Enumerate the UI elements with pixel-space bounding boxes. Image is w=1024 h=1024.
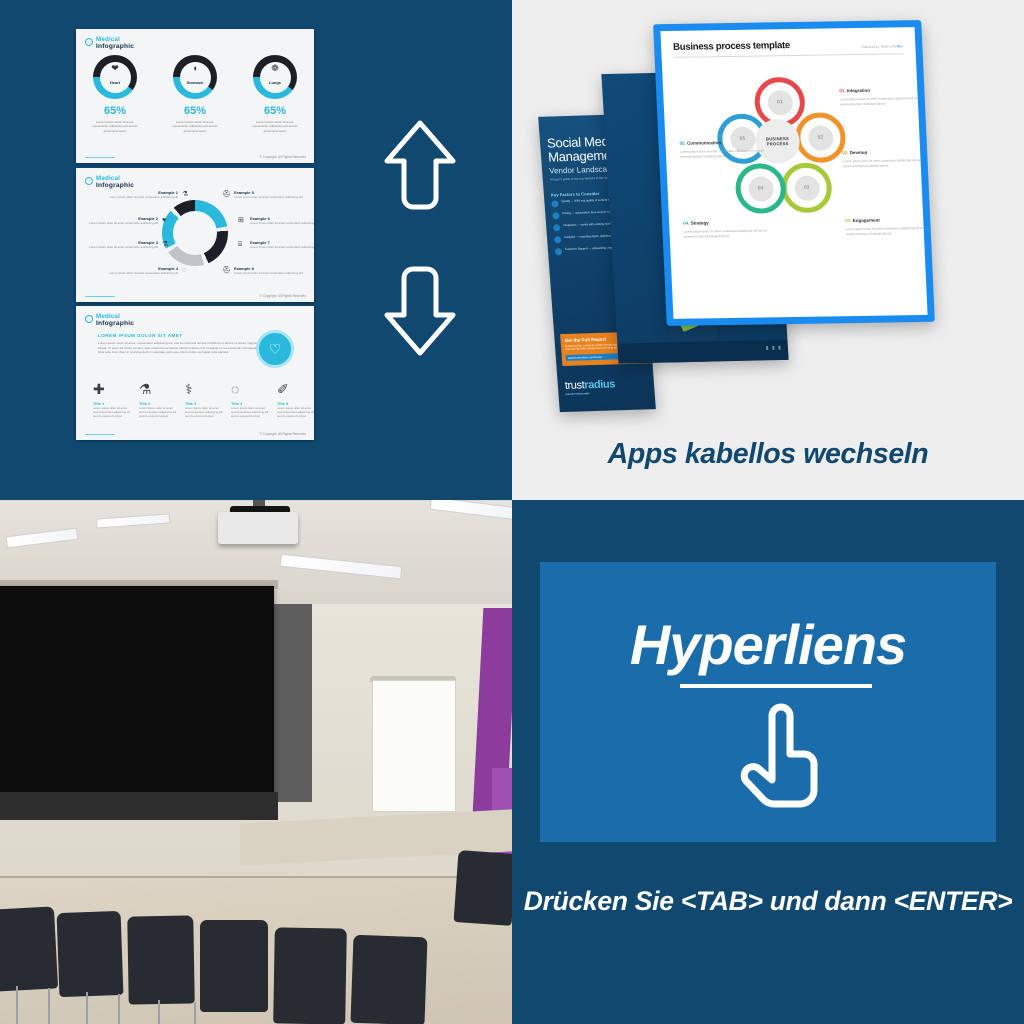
example-item-3: Example 3 Lorem ipsum dolor sit amet con… <box>80 240 158 250</box>
capsules-icon: ◌ <box>231 380 269 398</box>
core-label-2: PROCESS <box>767 141 789 146</box>
item-heading: 04. Strategy <box>683 219 767 226</box>
bullet-icon <box>551 200 559 207</box>
status-indicator: ▮ ▮ ▮ <box>766 345 782 351</box>
slide-3-item-row: ✚ Title 1 Lorem ipsum dolor sit amet sed… <box>93 380 314 419</box>
flask-icon: ⚗ <box>162 240 168 249</box>
logo-light: trust <box>564 379 584 392</box>
node-label: 04 <box>748 176 774 201</box>
logo-tagline: reviews from real users, verified <box>565 391 615 396</box>
chair <box>350 935 427 1024</box>
clipboard-icon: ⌸ <box>238 240 242 249</box>
donut-chart-heart: ❤ Heart <box>93 55 137 99</box>
meeting-room-photo <box>0 500 512 1024</box>
example-body: Lorem ipsum dolor sit amet consectetur a… <box>80 222 158 226</box>
item-body: Lorem ipsum dolor sit amet sed consectet… <box>185 407 223 419</box>
slide-3-title-top: Medical <box>96 313 134 320</box>
donut-item: ◖ Stomach 65% Lorem ipsum dolor sit amet… <box>168 55 223 133</box>
donut-label: Heart <box>110 69 120 85</box>
example-item-8: Example 8 Lorem ipsum dolor sit amet con… <box>234 266 312 276</box>
list-item: ✚ Title 1 Lorem ipsum dolor sit amet sed… <box>93 380 131 419</box>
top-right-caption: Apps kabellos wechseln <box>512 438 1024 471</box>
item-heading: 01. Integration <box>839 87 923 94</box>
example-item-5: Example 5 Lorem ipsum dolor sit amet con… <box>234 190 312 200</box>
item-body: Lorem ipsum dolor sit amet sed consectet… <box>231 407 269 419</box>
business-item-3: 03. Engagement Lorem ipsum dolor sit ame… <box>845 217 927 236</box>
projection-screen <box>0 586 274 792</box>
ambulance-icon: ⛑ <box>222 266 231 275</box>
donut-body: Lorem ipsum dolor sit amet, consectetur … <box>168 120 223 133</box>
slide-2-title-top: Medical <box>96 175 134 182</box>
example-item-6: Example 6 Lorem ipsum dolor sit amet con… <box>250 216 314 226</box>
syringe-icon: ✐ <box>277 380 314 398</box>
heart-shield-icon: ♥ <box>162 216 166 225</box>
item-heading: 05. Communication <box>679 139 763 146</box>
list-item: ⚗ Title 2 Lorem ipsum dolor sit amet sed… <box>139 380 177 419</box>
first-aid-kit-icon: ⊞ <box>238 216 244 225</box>
slide-thumbnail-1[interactable]: Medical Infographic ❤ Heart 65% Lorem ip… <box>76 29 314 163</box>
donut-label: Lungs <box>269 69 281 85</box>
footer-rule <box>85 434 115 435</box>
slide-3-paragraph: Lorem ipsum dolor sit amet, consectetur … <box>98 341 260 355</box>
item-number: 01. <box>839 88 845 93</box>
footer-rule <box>85 157 115 158</box>
bullet-icon <box>555 248 563 255</box>
example-body: Lorem ipsum dolor sit amet consectetur a… <box>80 246 158 250</box>
item-body: Lorem ipsum dolor sit amet sed consectet… <box>93 407 131 419</box>
footer-note: © Copyright. All Rights Reserved <box>260 432 306 436</box>
process-node-3: 03 <box>781 162 833 213</box>
slide-1-title-top: Medical <box>96 36 134 43</box>
example-item-1: Example 1 Lorem ipsum dolor sit amet con… <box>100 190 178 200</box>
infographic-page: Medical Infographic ❤ Heart 65% Lorem ip… <box>0 0 1024 1024</box>
footer-note: © Copyright. All Rights Reserved <box>260 155 306 159</box>
item-number: 02. <box>842 150 848 155</box>
slide-3-title-bottom: Infographic <box>96 320 134 328</box>
slide-thumbnail-2[interactable]: Medical Infographic Example 1 Lorem ipsu… <box>76 168 314 302</box>
donut-item: ❤ Heart 65% Lorem ipsum dolor sit amet, … <box>88 55 143 133</box>
wall-dark-strip <box>272 604 312 802</box>
bandage-icon: ✚ <box>93 380 131 398</box>
pointing-hand-icon <box>736 702 822 812</box>
business-item-1: 01. Integration Lorem ipsum dolor sit am… <box>839 87 924 106</box>
hyperlink-demo-panel: Hyperliens <box>540 562 996 842</box>
trustradius-logo: trustradius reviews from real users, ver… <box>564 378 615 396</box>
logo-bold: radius <box>584 378 616 391</box>
heartbeat-icon: ♡ <box>256 330 294 368</box>
app-card-stack: Social Media Management Vendor Landscape… <box>512 0 1024 410</box>
item-label: Strategy <box>691 220 709 225</box>
item-number: 03. <box>845 218 851 223</box>
example-item-4: Example 4 Lorem ipsum dolor sit amet con… <box>100 266 178 276</box>
item-heading: 02. Develop <box>842 149 926 156</box>
branding-accent: Pro <box>897 44 902 48</box>
process-ring-wrap: Example 1 Lorem ipsum dolor sit amet con… <box>76 188 314 292</box>
node-label: 02 <box>807 125 833 150</box>
bottom-right-caption: Drücken Sie <TAB> und dann <ENTER> <box>512 886 1024 917</box>
business-slide-branding: Published by TEMPLATE Pro <box>862 44 903 49</box>
footer-note: © Copyright. All Rights Reserved <box>260 294 306 298</box>
gear-icon <box>85 315 93 323</box>
donut-percent: 65% <box>168 105 223 117</box>
flipchart-whiteboard <box>372 680 456 812</box>
item-body: Lorem ipsum dolor sit amet consectetur a… <box>846 226 928 236</box>
branding-text: Published by TEMPLATE <box>862 44 897 49</box>
process-node-4: 04 <box>735 163 787 214</box>
business-slide-content: Business process template Published by T… <box>660 27 927 319</box>
title-underline <box>680 684 872 688</box>
slide-1-header: Medical Infographic <box>85 36 134 51</box>
list-item: ◌ Title 4 Lorem ipsum dolor sit amet sed… <box>231 380 269 419</box>
donut-chart-row: ❤ Heart 65% Lorem ipsum dolor sit amet, … <box>76 55 314 133</box>
node-label: 01 <box>767 90 793 115</box>
donut-body: Lorem ipsum dolor sit amet, consectetur … <box>88 120 143 133</box>
item-body: Lorem ipsum dolor sit amet consectetur a… <box>842 158 926 168</box>
page-title: Hyperliens <box>540 612 996 677</box>
example-body: Lorem ipsum dolor sit amet consectetur a… <box>250 246 314 250</box>
poster-key-heading: Key Factors to Consider <box>551 191 600 198</box>
chair <box>200 920 268 1012</box>
slide-thumbnails-panel: Medical Infographic ❤ Heart 65% Lorem ip… <box>0 0 512 500</box>
hyperlinks-panel: Hyperliens Drücken Sie <TAB> und dann <E… <box>512 500 1024 1024</box>
wireless-app-switching-panel: Social Media Management Vendor Landscape… <box>512 0 1024 500</box>
donut-percent: 65% <box>248 105 303 117</box>
example-item-2: Example 2 Lorem ipsum dolor sit amet con… <box>80 216 158 226</box>
bullet-icon <box>553 224 561 231</box>
microscope-icon: ⚗ <box>182 190 188 199</box>
donut-body: Lorem ipsum dolor sit amet, consectetur … <box>248 120 303 133</box>
slide-3-heading: LOREM IPSUM DOLOR SIT AMET <box>98 333 183 338</box>
list-item: ✐ Title 5 Lorem ipsum dolor sit amet sed… <box>277 380 314 419</box>
item-label: Engagement <box>853 218 880 223</box>
gear-icon <box>85 177 93 185</box>
item-body: Lorem ipsum dolor sit amet consectetur a… <box>680 148 764 158</box>
donut-chart-stomach: ◖ Stomach <box>173 55 217 99</box>
medicine-bottle-icon: ⚕ <box>185 380 223 398</box>
item-number: 04. <box>683 221 689 226</box>
title-rule <box>674 53 904 58</box>
list-item: ⚕ Title 3 Lorem ipsum dolor sit amet sed… <box>185 380 223 419</box>
example-body: Lorem ipsum dolor sit amet consectetur a… <box>100 196 178 200</box>
meeting-room-photo-panel: Lang drücken, um einen schwarzen Bildsch… <box>0 500 512 1024</box>
business-slide-title: Business process template <box>673 40 790 53</box>
business-item-5: 05. Communication Lorem ipsum dolor sit … <box>679 139 764 158</box>
item-body: Lorem ipsum dolor sit amet sed consectet… <box>277 407 314 419</box>
bullet-icon <box>554 236 562 243</box>
item-label: Communication <box>687 140 721 146</box>
bullet-icon <box>552 212 560 219</box>
example-body: Lorem ipsum dolor sit amet consectetur a… <box>250 222 314 226</box>
donut-label: Stomach <box>187 69 204 85</box>
node-label: 03 <box>794 175 820 200</box>
medical-bag-icon: ⛑ <box>222 190 231 199</box>
segmented-donut-chart <box>162 200 228 266</box>
item-body: Lorem ipsum dolor sit amet sed consectet… <box>139 407 177 419</box>
chair <box>273 927 347 1024</box>
gear-icon <box>85 38 93 46</box>
app-card-status-bar: ▮ ▮ ▮ <box>617 340 788 364</box>
donut-item: ❁ Lungs 65% Lorem ipsum dolor sit amet, … <box>248 55 303 133</box>
example-item-7: Example 7 Lorem ipsum dolor sit amet con… <box>250 240 314 250</box>
ceiling-projector <box>218 512 298 544</box>
slide-1-title-bottom: Infographic <box>96 43 134 51</box>
item-label: Develop <box>850 150 868 155</box>
chair <box>127 915 195 1004</box>
process-node-2: 02 <box>794 112 846 163</box>
dropper-icon: ⚗ <box>139 380 177 398</box>
arrow-down-icon <box>382 262 458 358</box>
chair <box>454 850 512 926</box>
item-label: Integration <box>847 88 870 93</box>
pills-icon: ◌ <box>182 266 186 275</box>
example-body: Lorem ipsum dolor sit amet consectetur a… <box>234 272 312 276</box>
screen-lower-board <box>0 792 278 820</box>
arrow-up-icon <box>382 118 458 214</box>
item-heading: 03. Engagement <box>845 217 927 224</box>
slide-3-header: Medical Infographic <box>85 313 134 328</box>
item-body: Lorem ipsum dolor sit amet consectetur a… <box>840 96 924 106</box>
chair <box>0 906 58 991</box>
footer-rule <box>85 296 115 297</box>
donut-chart-lungs: ❁ Lungs <box>253 55 297 99</box>
business-item-4: 04. Strategy Lorem ipsum dolor sit amet … <box>683 219 768 238</box>
item-body: Lorem ipsum dolor sit amet consectetur a… <box>683 228 767 238</box>
item-number: 05. <box>679 141 685 146</box>
business-item-2: 02. Develop Lorem ipsum dolor sit amet c… <box>842 149 927 168</box>
example-body: Lorem ipsum dolor sit amet consectetur a… <box>234 196 312 200</box>
example-body: Lorem ipsum dolor sit amet consectetur a… <box>100 272 178 276</box>
donut-percent: 65% <box>88 105 143 117</box>
business-process-slide-card[interactable]: Business process template Published by T… <box>653 20 935 326</box>
chair <box>57 911 124 997</box>
slide-thumbnail-3[interactable]: Medical Infographic LOREM IPSUM DOLOR SI… <box>76 306 314 440</box>
